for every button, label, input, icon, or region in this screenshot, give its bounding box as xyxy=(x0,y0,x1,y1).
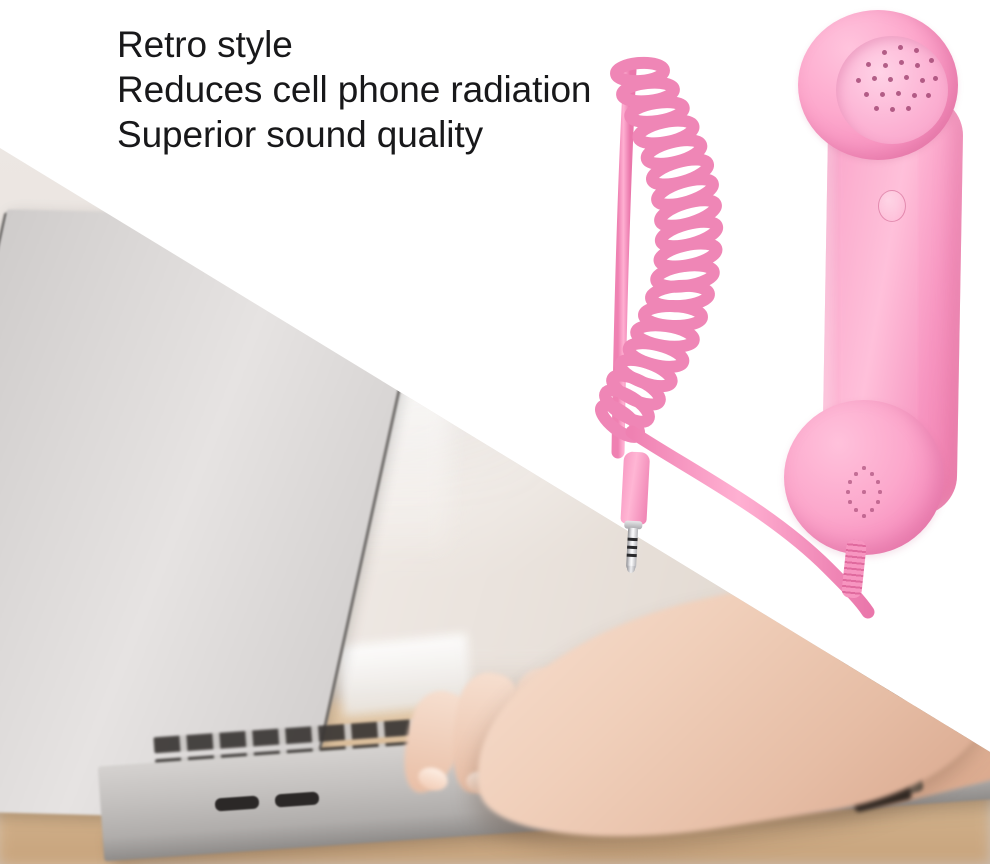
earpiece-cup xyxy=(798,10,958,160)
handle-button-top[interactable] xyxy=(878,190,906,222)
ad-canvas: Retro style Reduces cell phone radiation… xyxy=(0,0,990,864)
jack-insulator-ring xyxy=(627,546,637,550)
mouthpiece-cup xyxy=(784,400,944,555)
earpiece-inner-rim xyxy=(836,36,948,144)
jack-barrel xyxy=(620,451,650,524)
jack-plug-3-5mm xyxy=(609,451,661,573)
speaker-holes xyxy=(836,36,948,144)
cord-coil xyxy=(596,61,719,442)
jack-insulator-ring xyxy=(627,554,637,558)
microphone-holes xyxy=(784,400,944,555)
retro-handset xyxy=(780,0,990,600)
jack-tip xyxy=(627,566,635,573)
jack-insulator-ring xyxy=(627,538,637,542)
